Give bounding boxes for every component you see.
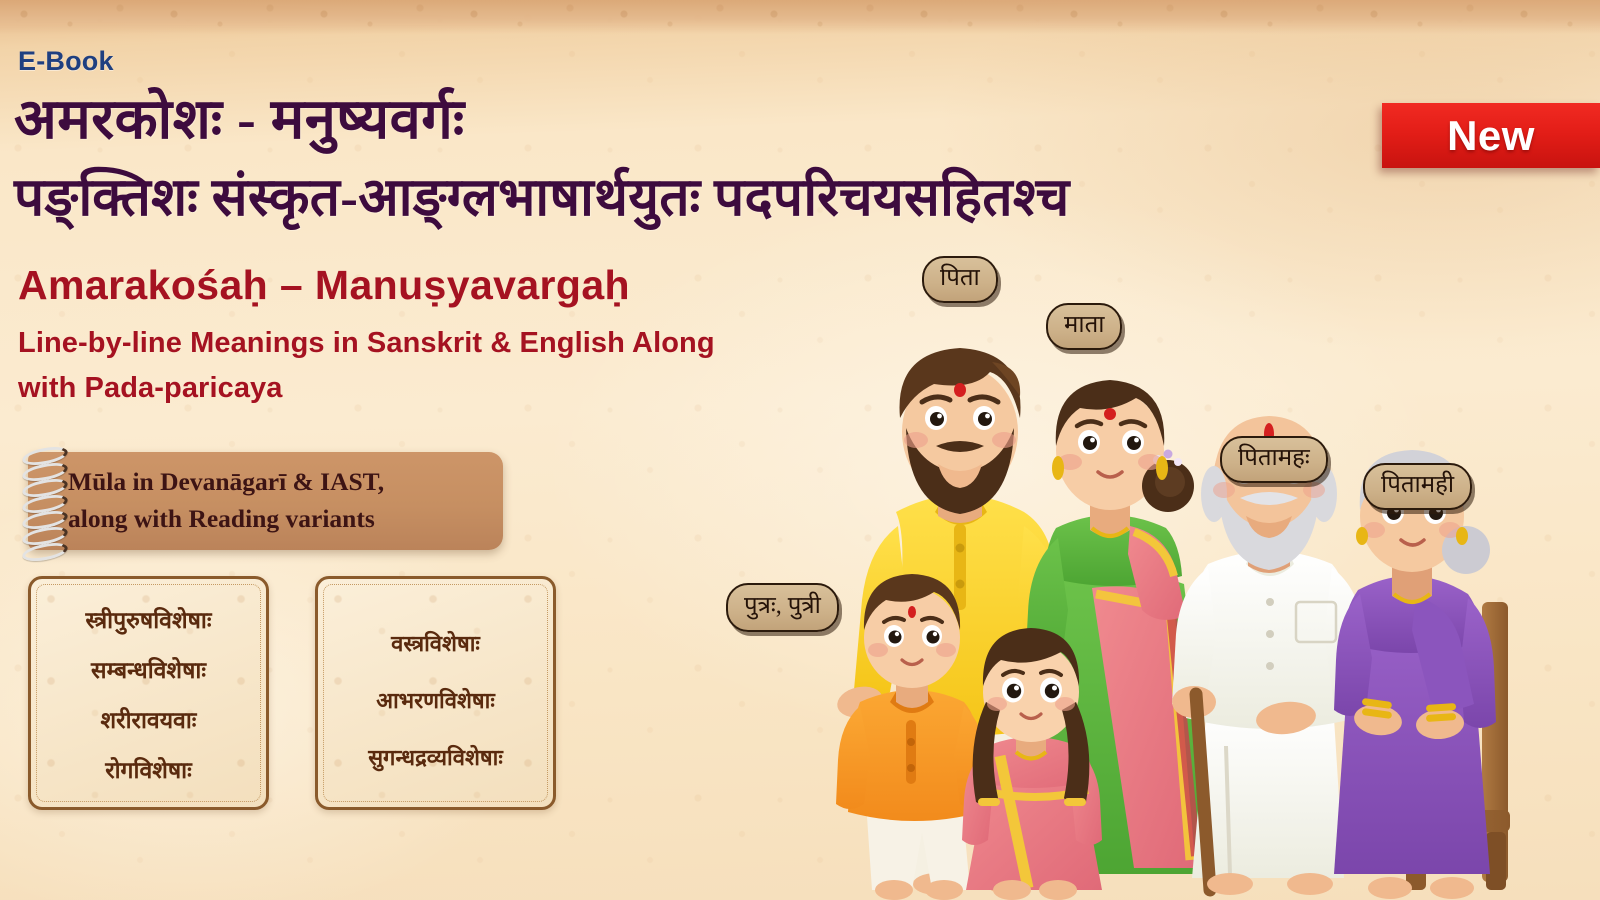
- label-grandfather: पितामहः: [1220, 436, 1328, 483]
- label-father-text: पिता: [940, 265, 980, 291]
- new-badge-label: New: [1447, 112, 1535, 160]
- family-illustration-graphic: [700, 250, 1600, 900]
- feature-banner-text: Mūla in Devanāgarī & IAST, along with Re…: [68, 464, 493, 538]
- label-father: पिता: [922, 256, 998, 303]
- feature-banner-line-1: Mūla in Devanāgarī & IAST,: [68, 464, 493, 501]
- list-item: सम्बन्धविशेषाः: [31, 646, 266, 696]
- topic-list-right: वस्त्रविशेषाः आभरणविशेषाः सुगन्धद्रव्यवि…: [318, 579, 553, 786]
- list-item: आभरणविशेषाः: [318, 672, 553, 729]
- label-grandmother-text: पितामही: [1381, 472, 1454, 498]
- top-decorative-band: [0, 0, 1600, 34]
- page-title-devanagari-line1: अमरकोशः - मनुष्यवर्गः: [14, 92, 465, 148]
- family-illustration: पिता माता पुत्रः, पुत्री पितामहः पितामही: [700, 250, 1600, 900]
- topic-box-right: वस्त्रविशेषाः आभरणविशेषाः सुगन्धद्रव्यवि…: [315, 576, 556, 810]
- topic-box-left: स्त्रीपुरुषविशेषाः सम्बन्धविशेषाः शरीराव…: [28, 576, 269, 810]
- ebook-badge: E-Book: [18, 46, 114, 77]
- page-title-devanagari-line2: पङ्क्तिशः संस्कृत-आङ्ग्लभाषार्थयुतः पदपर…: [14, 172, 1070, 225]
- label-grandmother: पितामही: [1363, 463, 1472, 510]
- label-children-text: पुत्रः, पुत्री: [744, 593, 821, 619]
- list-item: स्त्रीपुरुषविशेषाः: [31, 596, 266, 646]
- feature-banner: Mūla in Devanāgarī & IAST, along with Re…: [28, 452, 503, 550]
- list-item: सुगन्धद्रव्यविशेषाः: [318, 729, 553, 786]
- spiral-binding-icon: [22, 444, 68, 562]
- label-mother-text: माता: [1064, 312, 1104, 338]
- poster-canvas: E-Book अमरकोशः - मनुष्यवर्गः पङ्क्तिशः स…: [0, 0, 1600, 900]
- label-children: पुत्रः, पुत्री: [726, 583, 839, 632]
- new-badge: New: [1382, 103, 1600, 168]
- feature-banner-line-2: along with Reading variants: [68, 501, 493, 538]
- list-item: रोगविशेषाः: [31, 746, 266, 796]
- grandmother-figure: [1334, 450, 1496, 899]
- subtitle-line-1: Line-by-line Meanings in Sanskrit & Engl…: [18, 327, 715, 360]
- page-title-iast: Amarakośaḥ – Manuṣyavargaḥ: [18, 262, 630, 309]
- list-item: शरीरावयवाः: [31, 696, 266, 746]
- topic-list-left: स्त्रीपुरुषविशेषाः सम्बन्धविशेषाः शरीराव…: [31, 579, 266, 796]
- label-grandfather-text: पितामहः: [1238, 445, 1310, 471]
- subtitle-line-2: with Pada-paricaya: [18, 372, 283, 405]
- list-item: वस्त्रविशेषाः: [318, 615, 553, 672]
- label-mother: माता: [1046, 303, 1122, 350]
